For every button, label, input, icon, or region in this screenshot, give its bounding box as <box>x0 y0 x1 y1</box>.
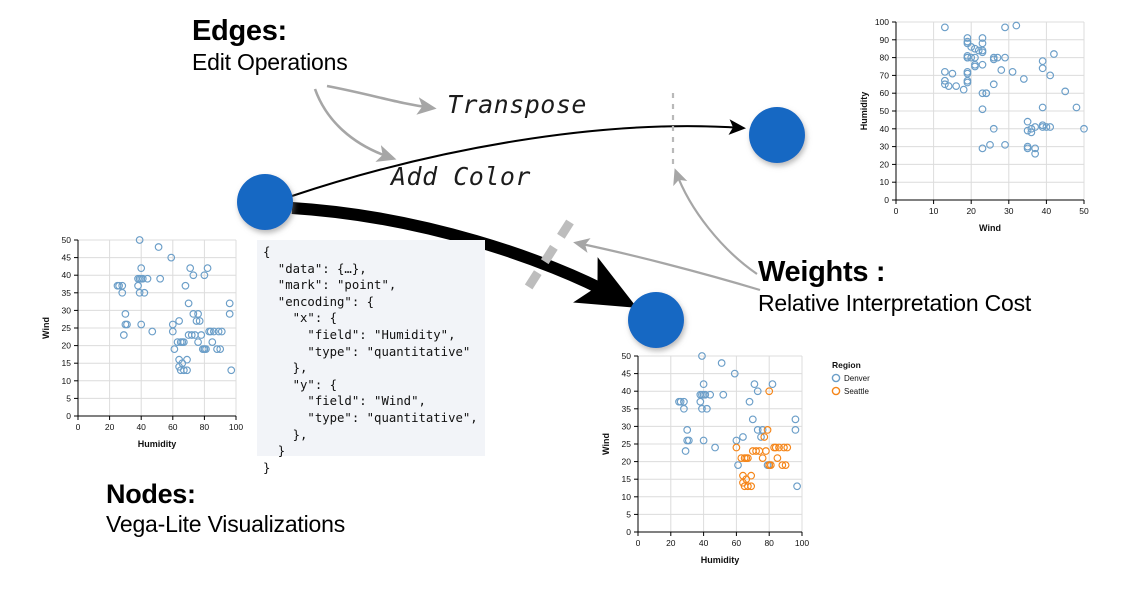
x-axis-title: Wind <box>979 223 1001 233</box>
chart-wind-humidity-topright: 010203040500102030405060708090100WindHum… <box>846 10 1138 246</box>
chart-humidity-wind-region: 02040608010005101520253035404550Humidity… <box>594 344 894 580</box>
svg-text:40: 40 <box>136 422 146 432</box>
svg-text:70: 70 <box>880 70 890 80</box>
svg-text:30: 30 <box>622 421 632 431</box>
svg-text:10: 10 <box>622 492 632 502</box>
svg-text:60: 60 <box>168 422 178 432</box>
x-axis-title: Humidity <box>138 439 177 449</box>
svg-text:45: 45 <box>622 369 632 379</box>
svg-text:0: 0 <box>76 422 81 432</box>
edges-annotation-arrow-to-edge <box>315 89 392 158</box>
chart-legend: RegionDenverSeattle <box>832 360 870 396</box>
diagram-canvas: Transpose Add Color Edges: Edit Operatio… <box>0 0 1139 601</box>
svg-text:0: 0 <box>894 206 899 216</box>
svg-text:15: 15 <box>622 474 632 484</box>
svg-text:100: 100 <box>875 17 889 27</box>
nodes-subtitle: Vega-Lite Visualizations <box>106 510 345 539</box>
svg-text:0: 0 <box>884 195 889 205</box>
svg-text:20: 20 <box>666 538 676 548</box>
svg-text:60: 60 <box>880 88 890 98</box>
svg-text:40: 40 <box>62 270 72 280</box>
svg-text:15: 15 <box>62 358 72 368</box>
svg-text:35: 35 <box>62 288 72 298</box>
gridlines <box>638 356 802 532</box>
svg-text:20: 20 <box>62 341 72 351</box>
nodes-annotation: Nodes: Vega-Lite Visualizations <box>106 478 345 539</box>
svg-text:0: 0 <box>66 411 71 421</box>
weights-heading: Weights : <box>758 255 1031 289</box>
svg-text:30: 30 <box>62 305 72 315</box>
svg-text:35: 35 <box>622 404 632 414</box>
svg-text:40: 40 <box>880 124 890 134</box>
source-node[interactable] <box>237 174 293 230</box>
svg-text:20: 20 <box>105 422 115 432</box>
svg-text:50: 50 <box>62 235 72 245</box>
series-seattle <box>733 388 790 490</box>
data-points <box>942 22 1088 157</box>
edges-subtitle: Edit Operations <box>192 48 348 76</box>
edge-label-transpose: Transpose <box>447 90 587 119</box>
legend-title: Region <box>832 360 861 370</box>
nodes-heading: Nodes: <box>106 478 345 510</box>
svg-text:10: 10 <box>62 376 72 386</box>
svg-text:25: 25 <box>622 439 632 449</box>
svg-text:40: 40 <box>622 386 632 396</box>
svg-text:30: 30 <box>880 142 890 152</box>
svg-text:80: 80 <box>200 422 210 432</box>
svg-text:50: 50 <box>1079 206 1089 216</box>
svg-text:90: 90 <box>880 35 890 45</box>
svg-text:40: 40 <box>699 538 709 548</box>
chart-topright-svg: 010203040500102030405060708090100WindHum… <box>846 10 1138 246</box>
gridlines <box>896 22 1084 200</box>
chart-bottomright-svg: 02040608010005101520253035404550Humidity… <box>594 344 894 580</box>
svg-text:10: 10 <box>929 206 939 216</box>
weights-annotation-arrow-lower <box>577 243 760 290</box>
legend-entry-seattle: Seattle <box>844 387 869 396</box>
svg-text:100: 100 <box>795 538 809 548</box>
edges-annotation: Edges: Edit Operations <box>192 14 348 76</box>
chart-left-svg: 02040608010005101520253035404550Humidity… <box>34 228 270 466</box>
weights-annotation: Weights : Relative Interpretation Cost <box>758 255 1031 318</box>
edges-heading: Edges: <box>192 14 348 48</box>
chart-humidity-wind-left: 02040608010005101520253035404550Humidity… <box>34 228 270 466</box>
add-color-node[interactable] <box>628 292 684 348</box>
svg-text:40: 40 <box>1042 206 1052 216</box>
svg-text:10: 10 <box>880 177 890 187</box>
svg-text:25: 25 <box>62 323 72 333</box>
legend-entry-denver: Denver <box>844 374 870 383</box>
weights-annotation-arrow-upper <box>676 172 757 274</box>
vega-lite-spec-code: { "data": {…}, "mark": "point", "encodin… <box>263 244 478 476</box>
transpose-node[interactable] <box>749 107 805 163</box>
svg-text:30: 30 <box>1004 206 1014 216</box>
svg-text:20: 20 <box>966 206 976 216</box>
weights-subtitle: Relative Interpretation Cost <box>758 289 1031 318</box>
svg-text:80: 80 <box>764 538 774 548</box>
svg-text:80: 80 <box>880 53 890 63</box>
svg-text:60: 60 <box>732 538 742 548</box>
y-axis-title: Wind <box>41 317 51 339</box>
svg-text:20: 20 <box>622 457 632 467</box>
svg-text:5: 5 <box>626 509 631 519</box>
y-axis-title: Humidity <box>859 92 869 131</box>
edges-annotation-arrow-to-transpose <box>327 86 432 108</box>
svg-text:5: 5 <box>66 393 71 403</box>
svg-text:0: 0 <box>626 527 631 537</box>
svg-text:50: 50 <box>880 106 890 116</box>
y-axis-title: Wind <box>601 433 611 455</box>
svg-text:50: 50 <box>622 351 632 361</box>
x-axis-title: Humidity <box>701 555 740 565</box>
svg-text:45: 45 <box>62 253 72 263</box>
series-all <box>942 22 1088 157</box>
svg-text:0: 0 <box>636 538 641 548</box>
svg-text:20: 20 <box>880 159 890 169</box>
svg-text:100: 100 <box>229 422 243 432</box>
edge-label-add-color: Add Color <box>391 162 531 191</box>
